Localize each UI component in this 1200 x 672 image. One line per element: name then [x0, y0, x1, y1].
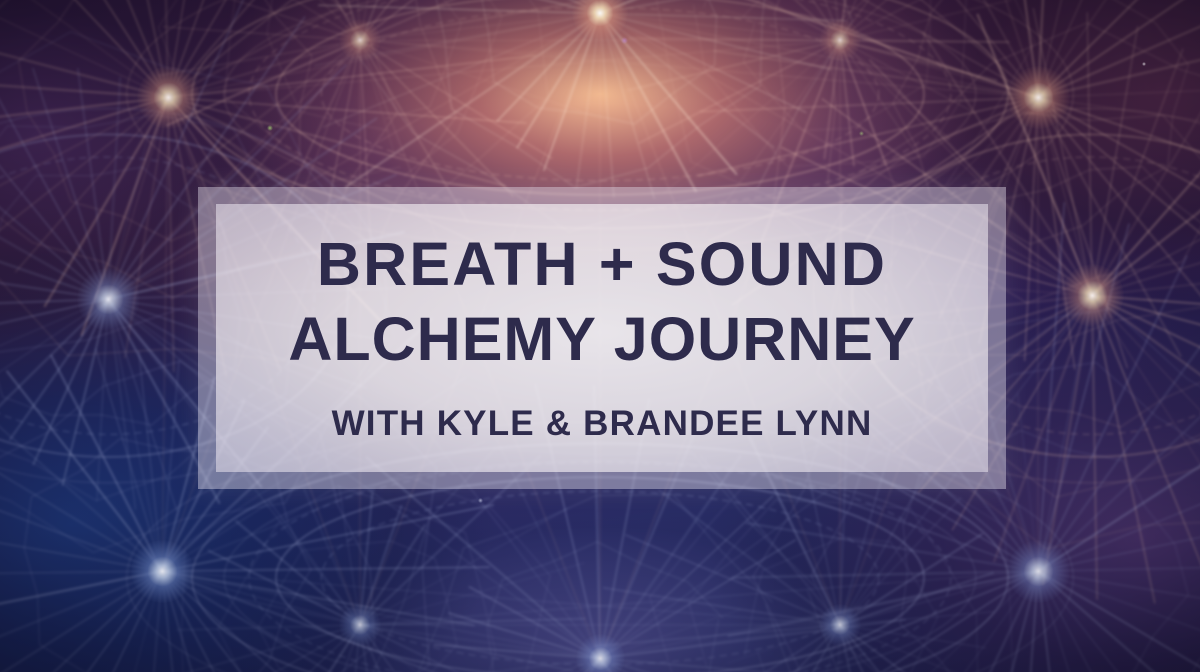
title-line-1: BREATH + SOUND — [317, 234, 887, 295]
title-line-2: ALCHEMY JOURNEY — [288, 309, 915, 370]
title-panel: BREATH + SOUND ALCHEMY JOURNEY WITH KYLE… — [198, 187, 1006, 489]
poster-canvas: BREATH + SOUND ALCHEMY JOURNEY WITH KYLE… — [0, 0, 1200, 672]
title-panel-content: BREATH + SOUND ALCHEMY JOURNEY WITH KYLE… — [198, 187, 1006, 489]
subtitle-presenters: WITH KYLE & BRANDEE LYNN — [332, 404, 873, 444]
